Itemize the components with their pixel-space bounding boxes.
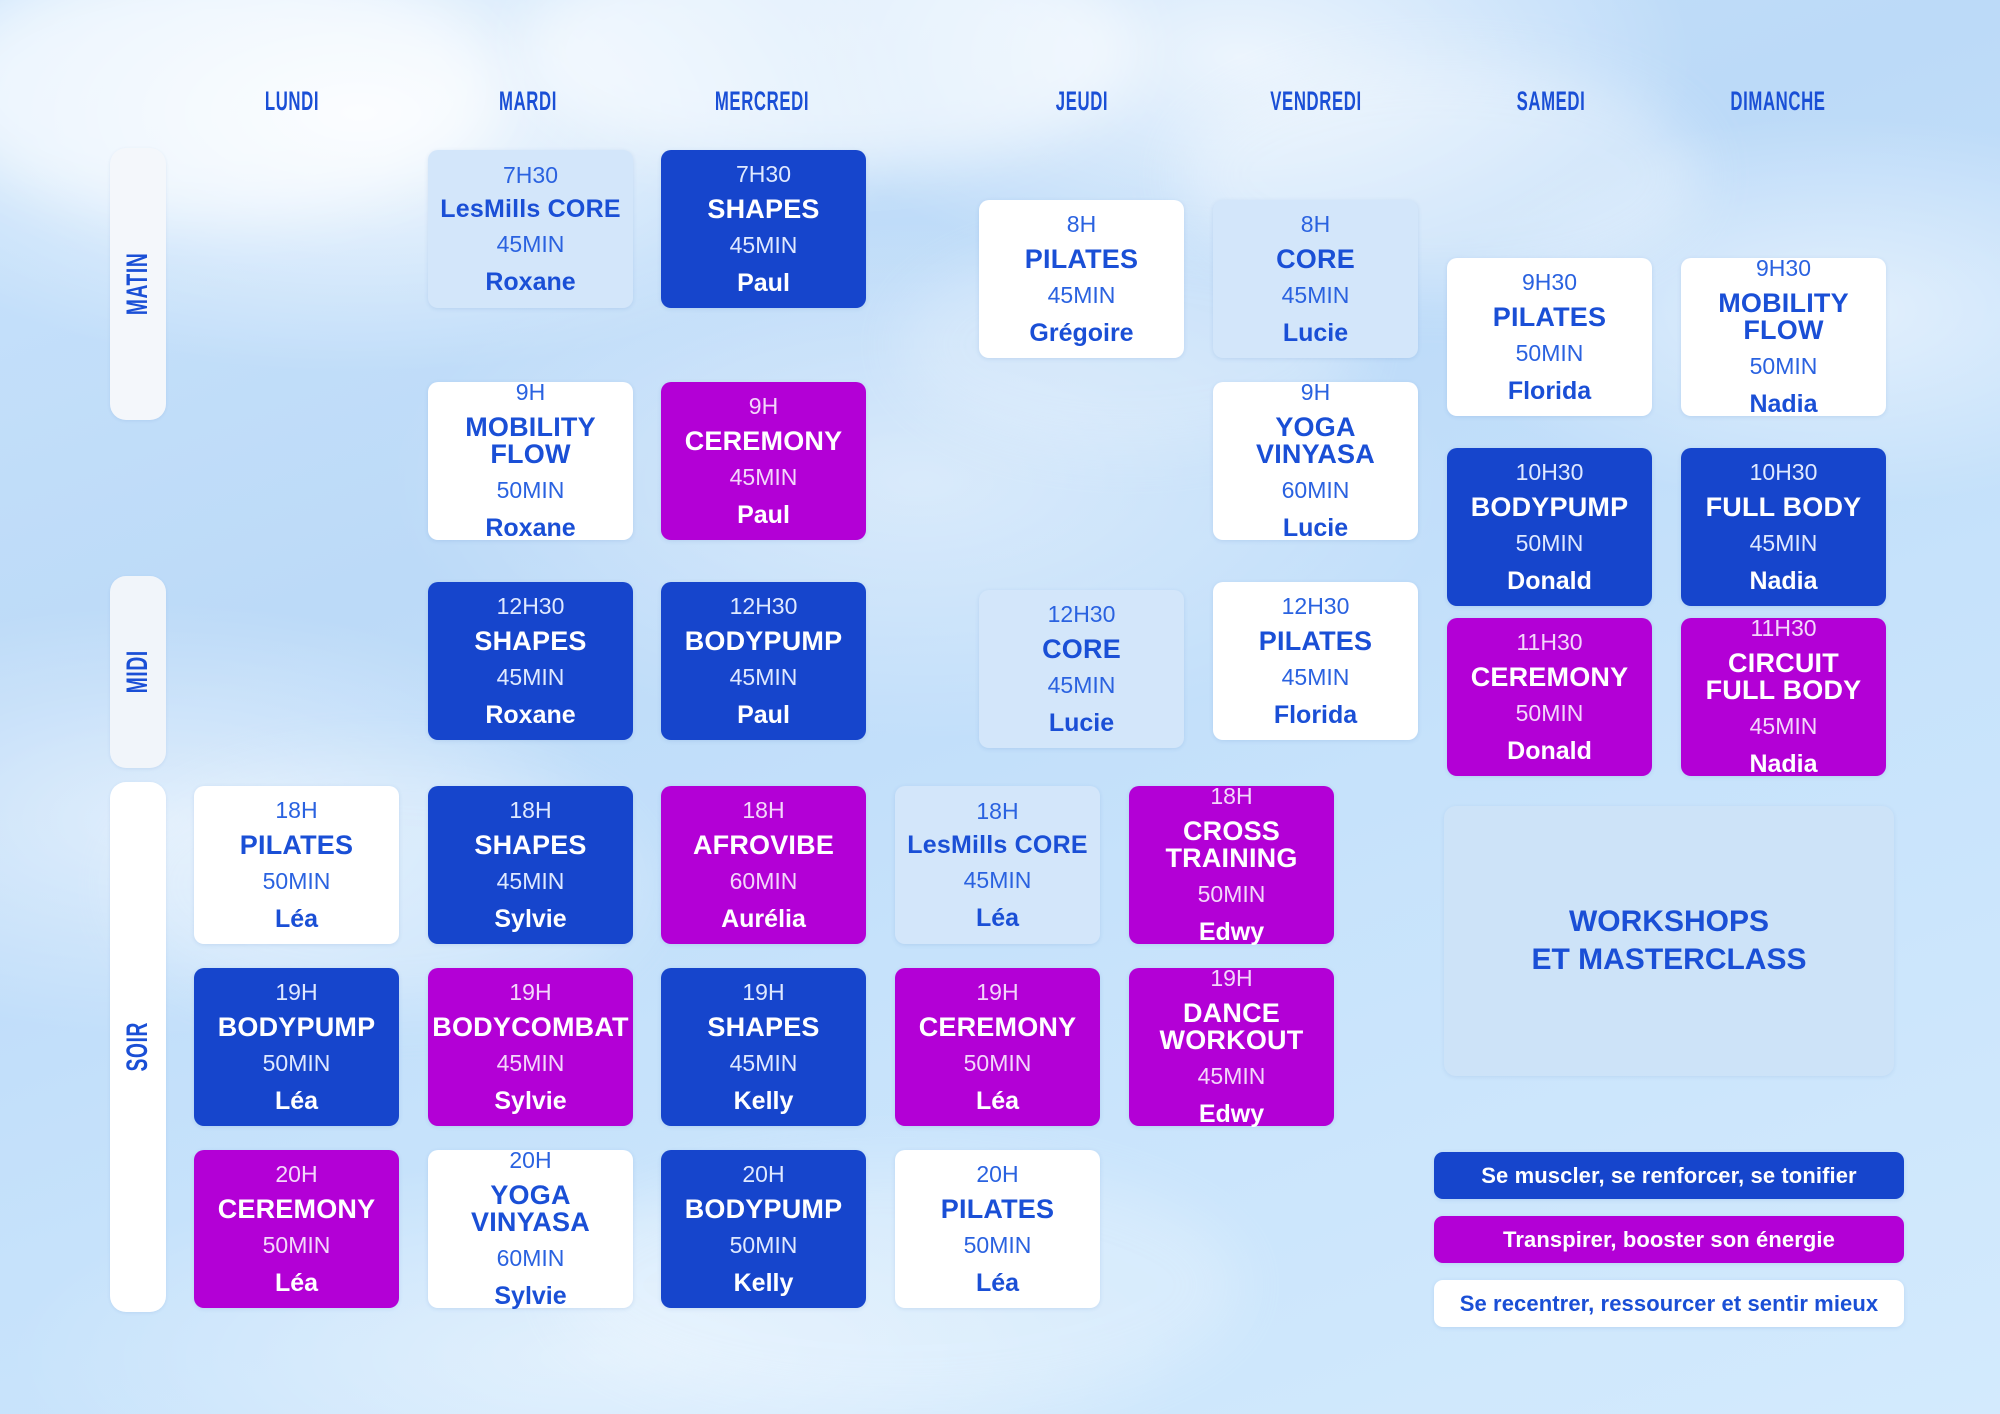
class-duration: 45MIN — [497, 869, 565, 893]
class-duration: 50MIN — [1516, 701, 1584, 725]
class-duration: 45MIN — [730, 233, 798, 257]
class-card[interactable]: 18HCROSSTRAINING50MINEdwy — [1129, 786, 1334, 944]
class-name: CEREMONY — [1471, 663, 1629, 692]
class-name: MOBILITYFLOW — [465, 414, 596, 469]
class-name: AFROVIBE — [693, 831, 834, 860]
period-label-soir: SOIR — [121, 1022, 155, 1072]
class-name: BODYPUMP — [685, 627, 843, 656]
period-pill-matin: MATIN — [110, 148, 166, 420]
class-name: PILATES — [1493, 303, 1606, 332]
class-name: BODYPUMP — [685, 1195, 843, 1224]
class-time: 20H — [742, 1162, 784, 1186]
class-time: 12H30 — [1282, 594, 1350, 618]
class-duration: 50MIN — [1516, 341, 1584, 365]
class-card[interactable]: 20HYOGAVINYASA60MINSylvie — [428, 1150, 633, 1308]
day-header-samedi: SAMEDI — [1439, 86, 1662, 120]
class-name: BODYCOMBAT — [432, 1013, 628, 1042]
class-duration: 50MIN — [1750, 354, 1818, 378]
class-card[interactable]: 7H30SHAPES45MINPaul — [661, 150, 866, 308]
class-name: CORE — [1042, 635, 1121, 664]
day-header-jeudi: JEUDI — [970, 86, 1193, 120]
class-duration: 45MIN — [964, 868, 1032, 892]
class-card[interactable]: 19HSHAPES45MINKelly — [661, 968, 866, 1126]
class-card[interactable]: 19HBODYPUMP50MINLéa — [194, 968, 399, 1126]
class-duration: 45MIN — [1750, 531, 1818, 555]
class-card[interactable]: 20HPILATES50MINLéa — [895, 1150, 1100, 1308]
class-duration: 60MIN — [730, 869, 798, 893]
class-duration: 45MIN — [1198, 1064, 1266, 1088]
period-pill-soir: SOIR — [110, 782, 166, 1312]
class-card[interactable]: 20HCEREMONY50MINLéa — [194, 1150, 399, 1308]
day-header-mardi: MARDI — [416, 86, 639, 120]
class-card[interactable]: 9HCEREMONY45MINPaul — [661, 382, 866, 540]
class-card[interactable]: 18HLesMills CORE45MINLéa — [895, 786, 1100, 944]
class-name: PILATES — [1259, 627, 1372, 656]
legend-item-force[interactable]: Se muscler, se renforcer, se tonifier — [1434, 1152, 1904, 1199]
class-time: 9H — [516, 380, 545, 404]
class-name: SHAPES — [707, 195, 819, 224]
class-duration: 50MIN — [263, 1233, 331, 1257]
class-coach: Léa — [976, 905, 1019, 932]
class-name: BODYPUMP — [1471, 493, 1629, 522]
class-coach: Sylvie — [494, 906, 566, 933]
period-label-matin: MATIN — [121, 253, 155, 316]
class-coach: Grégoire — [1029, 320, 1133, 347]
class-card[interactable]: 11H30CEREMONY50MINDonald — [1447, 618, 1652, 776]
class-name: PILATES — [1025, 245, 1138, 274]
class-coach: Nadia — [1749, 391, 1817, 418]
class-coach: Kelly — [734, 1088, 794, 1115]
class-coach: Paul — [737, 270, 790, 297]
schedule-sheet: LUNDIMARDIMERCREDIJEUDIVENDREDISAMEDIDIM… — [0, 0, 2000, 1414]
class-time: 19H — [1210, 966, 1252, 990]
class-time: 20H — [976, 1162, 1018, 1186]
class-card[interactable]: 12H30PILATES45MINFlorida — [1213, 582, 1418, 740]
class-card[interactable]: 12H30SHAPES45MINRoxane — [428, 582, 633, 740]
class-time: 19H — [275, 980, 317, 1004]
class-card[interactable]: 9HMOBILITYFLOW50MINRoxane — [428, 382, 633, 540]
class-card[interactable]: 10H30FULL BODY45MINNadia — [1681, 448, 1886, 606]
legend-item-wellness[interactable]: Se recentrer, ressourcer et sentir mieux — [1434, 1280, 1904, 1327]
day-header-lundi: LUNDI — [180, 86, 403, 120]
class-duration: 45MIN — [497, 232, 565, 256]
class-duration: 50MIN — [964, 1051, 1032, 1075]
class-time: 12H30 — [497, 594, 565, 618]
class-coach: Edwy — [1199, 1101, 1264, 1128]
class-duration: 45MIN — [730, 465, 798, 489]
class-card[interactable]: 20HBODYPUMP50MINKelly — [661, 1150, 866, 1308]
class-name: YOGAVINYASA — [1256, 414, 1375, 469]
class-coach: Lucie — [1049, 710, 1114, 737]
class-coach: Florida — [1508, 378, 1591, 405]
class-coach: Nadia — [1749, 568, 1817, 595]
class-duration: 45MIN — [1048, 673, 1116, 697]
class-coach: Léa — [275, 906, 318, 933]
class-time: 10H30 — [1750, 460, 1818, 484]
class-card[interactable]: 9H30MOBILITYFLOW50MINNadia — [1681, 258, 1886, 416]
class-coach: Roxane — [485, 702, 575, 729]
class-card[interactable]: 11H30CIRCUITFULL BODY45MINNadia — [1681, 618, 1886, 776]
class-duration: 45MIN — [730, 1051, 798, 1075]
class-coach: Sylvie — [494, 1283, 566, 1310]
class-coach: Florida — [1274, 702, 1357, 729]
class-coach: Edwy — [1199, 919, 1264, 946]
class-duration: 60MIN — [1282, 478, 1350, 502]
class-name: LesMills CORE — [907, 832, 1087, 859]
class-coach: Paul — [737, 702, 790, 729]
class-time: 18H — [509, 798, 551, 822]
class-time: 12H30 — [1048, 602, 1116, 626]
class-duration: 60MIN — [497, 1246, 565, 1270]
class-card[interactable]: 8HCORE45MINLucie — [1213, 200, 1418, 358]
class-name: YOGAVINYASA — [471, 1182, 590, 1237]
class-name: SHAPES — [707, 1013, 819, 1042]
class-card[interactable]: 19HBODYCOMBAT45MINSylvie — [428, 968, 633, 1126]
class-name: CEREMONY — [685, 427, 843, 456]
class-duration: 50MIN — [263, 869, 331, 893]
class-coach: Lucie — [1283, 515, 1348, 542]
class-name: MOBILITYFLOW — [1718, 290, 1849, 345]
class-coach: Léa — [275, 1270, 318, 1297]
class-name: PILATES — [240, 831, 353, 860]
class-time: 9H — [1301, 380, 1330, 404]
class-time: 8H — [1301, 212, 1330, 236]
legend-item-cardio[interactable]: Transpirer, booster son énergie — [1434, 1216, 1904, 1263]
class-time: 9H30 — [1522, 270, 1577, 294]
class-duration: 50MIN — [497, 478, 565, 502]
class-time: 18H — [275, 798, 317, 822]
class-coach: Roxane — [485, 269, 575, 296]
class-duration: 45MIN — [730, 665, 798, 689]
class-duration: 45MIN — [1282, 665, 1350, 689]
class-card[interactable]: 18HAFROVIBE60MINAurélia — [661, 786, 866, 944]
class-name: DANCEWORKOUT — [1160, 1000, 1304, 1055]
class-time: 18H — [1210, 784, 1252, 808]
class-card[interactable]: 12H30BODYPUMP45MINPaul — [661, 582, 866, 740]
class-name: CIRCUITFULL BODY — [1706, 650, 1862, 705]
period-label-midi: MIDI — [121, 650, 155, 693]
class-card[interactable]: 19HDANCEWORKOUT45MINEdwy — [1129, 968, 1334, 1126]
class-time: 11H30 — [1750, 616, 1816, 640]
class-name: PILATES — [941, 1195, 1054, 1224]
class-coach: Lucie — [1283, 320, 1348, 347]
class-time: 7H30 — [736, 162, 791, 186]
class-time: 12H30 — [730, 594, 798, 618]
class-card[interactable]: 18HSHAPES45MINSylvie — [428, 786, 633, 944]
class-time: 19H — [976, 980, 1018, 1004]
class-card[interactable]: 9H30PILATES50MINFlorida — [1447, 258, 1652, 416]
class-card[interactable]: 7H30LesMills CORE45MINRoxane — [428, 150, 633, 308]
class-duration: 50MIN — [730, 1233, 798, 1257]
class-coach: Kelly — [734, 1270, 794, 1297]
day-header-dimanche: DIMANCHE — [1666, 86, 1889, 120]
class-name: CEREMONY — [218, 1195, 376, 1224]
cloud-decoration — [520, 0, 1140, 170]
class-duration: 45MIN — [497, 1051, 565, 1075]
legend-label-force: Se muscler, se renforcer, se tonifier — [1481, 1163, 1856, 1189]
class-time: 7H30 — [503, 163, 558, 187]
class-time: 10H30 — [1516, 460, 1584, 484]
class-duration: 45MIN — [1750, 714, 1818, 738]
class-time: 9H30 — [1756, 256, 1811, 280]
class-name: LesMills CORE — [440, 196, 620, 223]
class-coach: Aurélia — [721, 906, 806, 933]
class-time: 11H30 — [1516, 630, 1582, 654]
class-coach: Sylvie — [494, 1088, 566, 1115]
class-name: CROSSTRAINING — [1165, 818, 1297, 873]
period-pill-midi: MIDI — [110, 576, 166, 768]
legend-label-cardio: Transpirer, booster son énergie — [1503, 1227, 1835, 1253]
class-name: FULL BODY — [1706, 493, 1862, 522]
class-time: 8H — [1067, 212, 1096, 236]
class-duration: 50MIN — [263, 1051, 331, 1075]
day-header-mercredi: MERCREDI — [650, 86, 873, 120]
class-name: CORE — [1276, 245, 1355, 274]
class-duration: 50MIN — [1516, 531, 1584, 555]
class-duration: 45MIN — [497, 665, 565, 689]
workshops-line-2: ET MASTERCLASS — [1531, 941, 1806, 979]
class-time: 18H — [976, 799, 1018, 823]
class-card[interactable]: 10H30BODYPUMP50MINDonald — [1447, 448, 1652, 606]
class-duration: 45MIN — [1048, 283, 1116, 307]
class-coach: Nadia — [1749, 751, 1817, 778]
class-time: 20H — [275, 1162, 317, 1186]
class-coach: Donald — [1507, 568, 1592, 595]
class-duration: 50MIN — [1198, 882, 1266, 906]
day-header-vendredi: VENDREDI — [1204, 86, 1427, 120]
class-name: SHAPES — [474, 627, 586, 656]
class-card[interactable]: 8HPILATES45MINGrégoire — [979, 200, 1184, 358]
class-coach: Roxane — [485, 515, 575, 542]
class-coach: Donald — [1507, 738, 1592, 765]
class-coach: Léa — [976, 1270, 1019, 1297]
class-time: 19H — [509, 980, 551, 1004]
workshops-panel[interactable]: WORKSHOPS ET MASTERCLASS — [1444, 806, 1894, 1076]
class-time: 9H — [749, 394, 778, 418]
class-card[interactable]: 18HPILATES50MINLéa — [194, 786, 399, 944]
class-name: SHAPES — [474, 831, 586, 860]
legend-label-wellness: Se recentrer, ressourcer et sentir mieux — [1460, 1291, 1879, 1317]
class-duration: 45MIN — [1282, 283, 1350, 307]
class-time: 19H — [742, 980, 784, 1004]
class-coach: Paul — [737, 502, 790, 529]
class-time: 20H — [509, 1148, 551, 1172]
class-name: BODYPUMP — [218, 1013, 376, 1042]
workshops-line-1: WORKSHOPS — [1531, 903, 1806, 941]
class-time: 18H — [742, 798, 784, 822]
class-duration: 50MIN — [964, 1233, 1032, 1257]
class-card[interactable]: 9HYOGAVINYASA60MINLucie — [1213, 382, 1418, 540]
class-coach: Léa — [976, 1088, 1019, 1115]
class-coach: Léa — [275, 1088, 318, 1115]
class-card[interactable]: 12H30CORE45MINLucie — [979, 590, 1184, 748]
class-card[interactable]: 19HCEREMONY50MINLéa — [895, 968, 1100, 1126]
class-name: CEREMONY — [919, 1013, 1077, 1042]
